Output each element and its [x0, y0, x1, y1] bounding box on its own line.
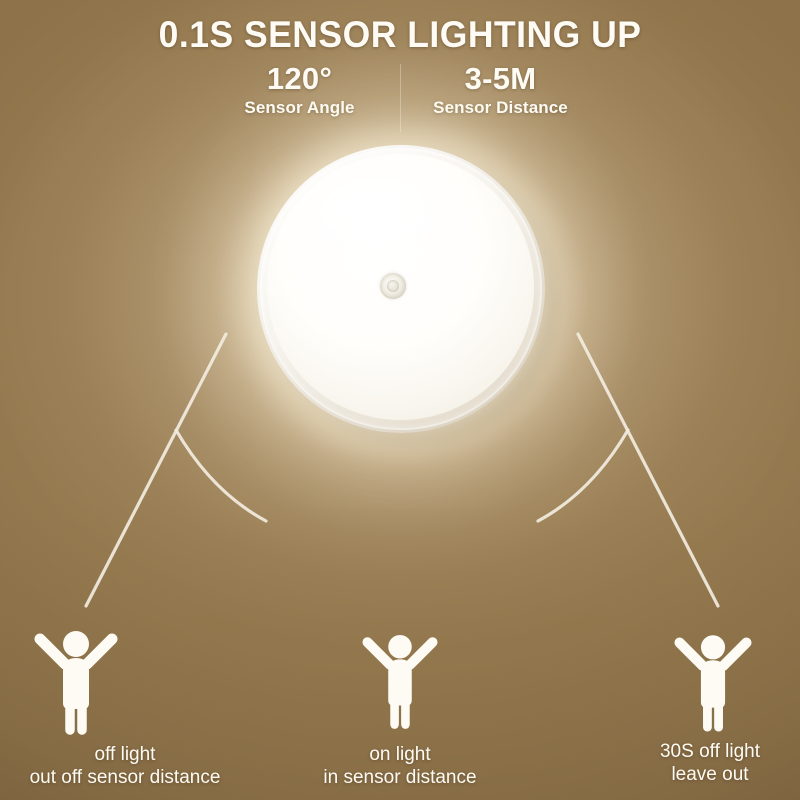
spec-row: 120° Sensor Angle 3-5M Sensor Distance — [0, 62, 800, 134]
spec-sensor-distance: 3-5M Sensor Distance — [401, 62, 601, 119]
scenario-right-line1: 30S off light — [620, 740, 800, 763]
scenario-caption-middle: on light in sensor distance — [290, 743, 510, 789]
spec-distance-label: Sensor Distance — [401, 97, 601, 119]
scenario-middle-line1: on light — [290, 743, 510, 766]
person-arms-raised-icon-right — [674, 630, 752, 737]
person-arms-raised-icon-left — [34, 628, 118, 738]
scenario-caption-right: 30S off light leave out — [620, 740, 800, 786]
spec-sensor-angle: 120° Sensor Angle — [200, 62, 400, 119]
motion-sensor-light — [257, 145, 545, 433]
scenario-left-line1: off light — [0, 743, 250, 766]
scenario-middle-line2: in sensor distance — [290, 766, 510, 789]
scenario-caption-left: off light out off sensor distance — [0, 743, 250, 789]
spec-distance-value: 3-5M — [401, 62, 601, 97]
scenario-left-line2: out off sensor distance — [0, 766, 250, 789]
lamp-highlight — [309, 171, 459, 263]
scenario-right-line2: leave out — [620, 763, 800, 786]
page-title: 0.1S SENSOR LIGHTING UP — [16, 16, 784, 55]
spec-angle-value: 120° — [200, 62, 400, 97]
pir-motion-sensor-icon — [380, 273, 406, 299]
product-infographic: 0.1S SENSOR LIGHTING UP 120° Sensor Angl… — [0, 0, 800, 800]
person-arms-raised-icon-middle — [362, 629, 438, 735]
pir-sensor-lens — [387, 280, 399, 292]
spec-angle-label: Sensor Angle — [200, 97, 400, 119]
